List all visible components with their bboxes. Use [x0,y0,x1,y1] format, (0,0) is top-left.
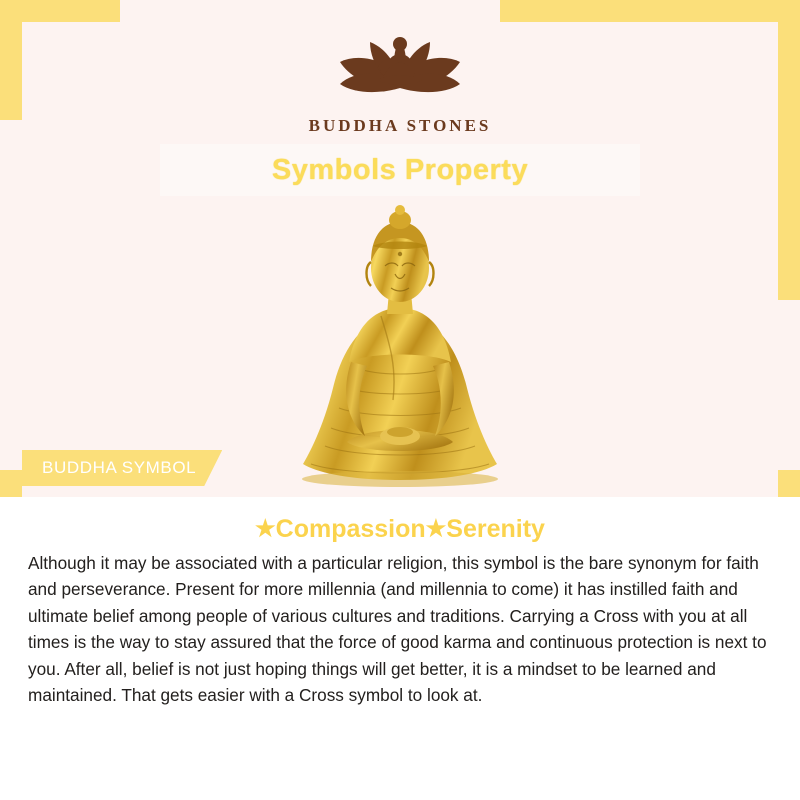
content-headline: ★Compassion★Serenity [0,515,800,544]
content-panel: ★Compassion★Serenity Although it may be … [0,497,800,800]
content-paragraph: Although it may be associated with a par… [28,550,772,709]
lotus-meditation-icon [310,18,490,110]
headline-keyword-serenity: Serenity [446,515,545,543]
seated-buddha-illustration [285,196,515,496]
poster-page: BUDDHA STONES Symbols Property [0,0,800,800]
brand-name: BUDDHA STONES [0,116,800,136]
title-band: Symbols Property [160,144,640,196]
star-icon-right: ★ [426,515,447,541]
brand-logo: BUDDHA STONES [0,18,800,136]
star-icon-left: ★ [255,515,276,541]
symbol-tag: BUDDHA SYMBOL [22,450,222,486]
symbol-tag-label: BUDDHA SYMBOL [42,458,196,478]
page-title: Symbols Property [272,154,528,187]
headline-keyword-compassion: Compassion [276,515,426,543]
